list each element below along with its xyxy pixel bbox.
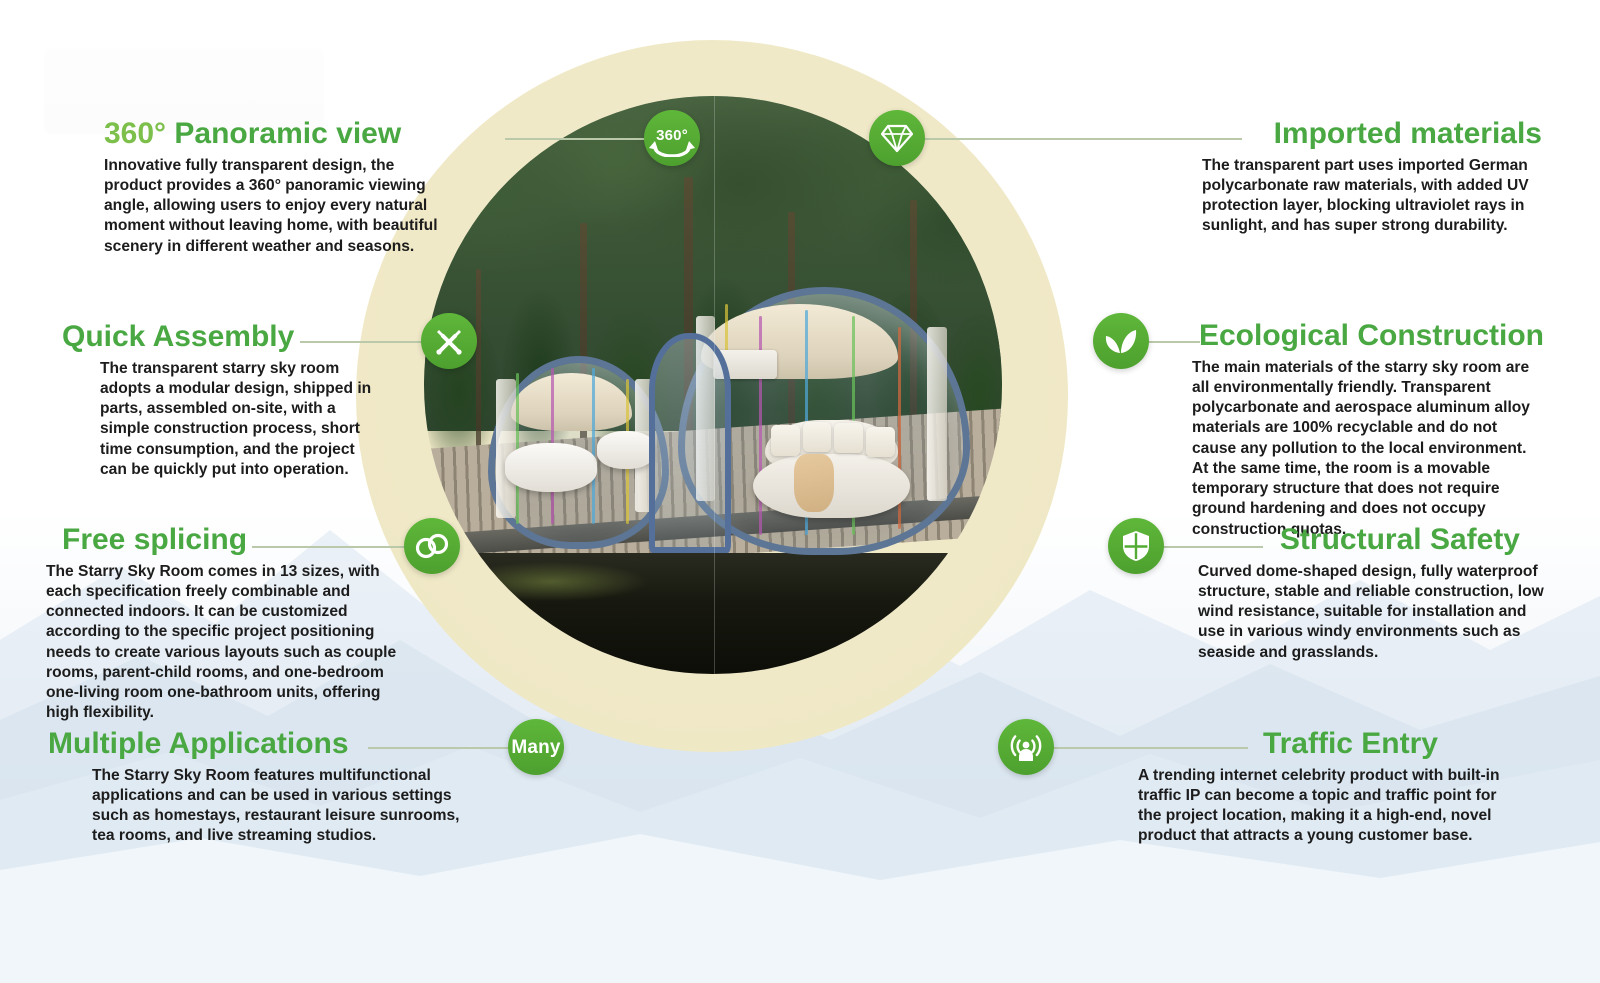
feature-quick-assembly: Quick Assembly The transparent starry sk… [62, 321, 422, 480]
leaves-icon[interactable] [1093, 313, 1149, 369]
feature-title-traffic-entry: Traffic Entry [1186, 728, 1438, 760]
feature-structural-safety: Structural Safety Curved dome-shaped des… [1190, 524, 1520, 663]
feature-body-free-splicing: The Starry Sky Room comes in 13 sizes, w… [46, 562, 398, 724]
feature-body-imported-materials: The transparent part uses imported Germa… [1202, 156, 1542, 237]
shield-icon[interactable] [1108, 518, 1164, 574]
feature-body-ecological-construction: The main materials of the starry sky roo… [1192, 358, 1542, 540]
feature-body-multiple-applications: The Starry Sky Room features multifuncti… [92, 766, 464, 847]
feature-title-panoramic-view: 360° Panoramic view [104, 118, 504, 150]
feature-multiple-applications: Multiple Applications The Starry Sky Roo… [48, 728, 378, 847]
feature-title-ecological-construction: Ecological Construction [1192, 320, 1544, 352]
feature-traffic-entry: Traffic Entry A trending internet celebr… [1186, 728, 1438, 847]
broadcast-person-icon[interactable] [998, 719, 1054, 775]
feature-title-structural-safety: Structural Safety [1190, 524, 1520, 556]
feature-body-quick-assembly: The transparent starry sky room adopts a… [100, 359, 372, 481]
feature-lead-360: 360° [104, 117, 166, 150]
connector-line-panoramic-view [505, 138, 653, 140]
feature-title-free-splicing: Free splicing [62, 524, 412, 556]
infographic-canvas: 360° [0, 0, 1600, 983]
feature-title-quick-assembly: Quick Assembly [62, 321, 422, 353]
feature-body-structural-safety: Curved dome-shaped design, fully waterpr… [1198, 562, 1546, 663]
many-text-icon[interactable]: Many [508, 719, 564, 775]
feature-title-multiple-applications: Multiple Applications [48, 728, 378, 760]
feature-title-imported-materials: Imported materials [1178, 118, 1542, 150]
feature-imported-materials: Imported materials The transparent part … [1178, 118, 1542, 237]
feature-ecological-construction: Ecological Construction The main materia… [1192, 320, 1544, 540]
diamond-icon[interactable] [869, 110, 925, 166]
360-rotate-icon[interactable]: 360° [644, 110, 700, 166]
feature-title-text-panoramic-view: Panoramic view [174, 117, 401, 150]
feature-free-splicing: Free splicing The Starry Sky Room comes … [62, 524, 412, 724]
connector-line-multiple-applications [368, 747, 518, 749]
feature-panoramic-view: 360° Panoramic view Innovative fully tra… [104, 118, 504, 257]
link-rings-icon[interactable] [404, 518, 460, 574]
feature-body-traffic-entry: A trending internet celebrity product wi… [1138, 766, 1520, 847]
many-icon-label: Many [511, 738, 560, 757]
wrench-screwdriver-icon[interactable] [421, 313, 477, 369]
product-photo [424, 96, 1002, 674]
feature-body-panoramic-view: Innovative fully transparent design, the… [104, 156, 456, 257]
